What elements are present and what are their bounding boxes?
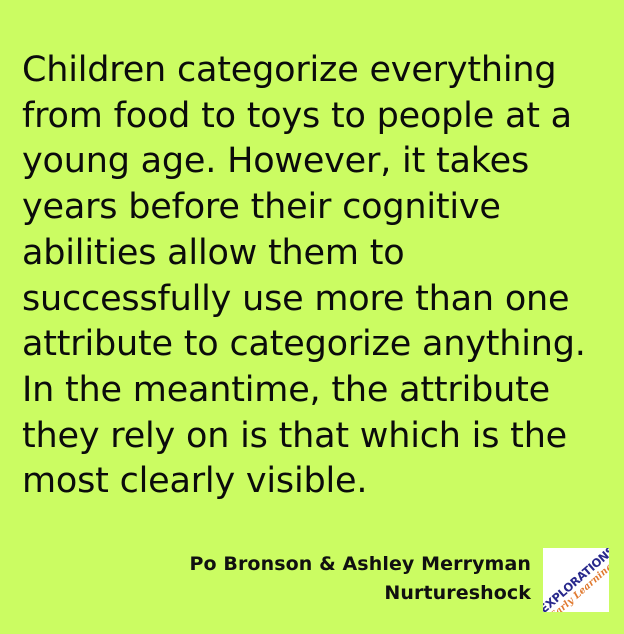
quote-source-title: Nurtureshock <box>0 579 531 608</box>
quote-line: years before their cognitive <box>22 185 600 231</box>
quote-line: abilities allow them to <box>22 231 600 277</box>
quote-card: Children categorize everything from food… <box>0 0 624 634</box>
explorations-early-learning-logo: EXPLORATIONS Early Learning <box>543 548 609 612</box>
quote-line: successfully use more than one <box>22 277 600 323</box>
quote-line: from food to toys to people at a <box>22 94 600 140</box>
quote-authors: Po Bronson & Ashley Merryman <box>0 550 531 579</box>
attribution-block: Po Bronson & Ashley Merryman Nurtureshoc… <box>0 550 531 608</box>
quote-line: Children categorize everything <box>22 48 600 94</box>
quote-line: most clearly visible. <box>22 459 600 505</box>
quote-line: young age. However, it takes <box>22 139 600 185</box>
quote-line: they rely on is that which is the <box>22 414 600 460</box>
quote-line: In the meantime, the attribute <box>22 368 600 414</box>
quote-line: attribute to categorize anything. <box>22 322 600 368</box>
quote-text-block: Children categorize everything from food… <box>22 48 600 505</box>
logo-inner: EXPLORATIONS Early Learning <box>543 548 609 612</box>
